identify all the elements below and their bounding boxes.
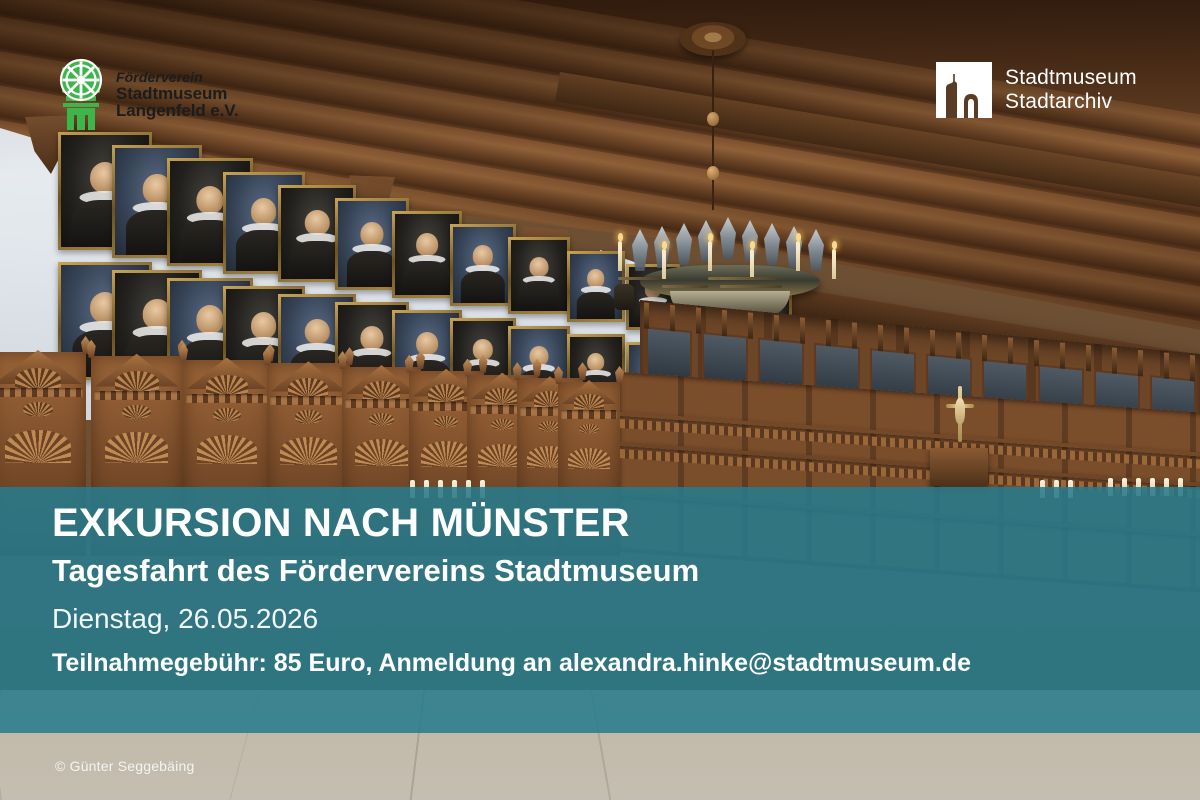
stall-fan-upper bbox=[574, 394, 604, 409]
stall-fan-upper bbox=[206, 375, 248, 396]
gallery-baluster bbox=[1112, 347, 1117, 373]
chandelier-flame bbox=[708, 233, 713, 241]
stall-frieze bbox=[186, 394, 268, 403]
gallery-baluster bbox=[644, 302, 649, 328]
chandelier-finial bbox=[720, 217, 736, 259]
chandelier-candle bbox=[708, 241, 712, 271]
stall-medallion bbox=[579, 424, 599, 434]
chandelier-finial bbox=[676, 223, 692, 265]
chandelier-candle bbox=[662, 249, 666, 279]
gallery-baluster bbox=[878, 325, 883, 351]
chandelier-finial bbox=[764, 223, 780, 265]
gallery-baluster bbox=[722, 310, 727, 336]
stall-fan-niche bbox=[197, 435, 257, 465]
gallery-baluster bbox=[1138, 350, 1143, 376]
gallery-baluster bbox=[826, 320, 831, 346]
gallery-baluster bbox=[696, 307, 701, 333]
stall-frieze bbox=[94, 391, 180, 400]
sconce-base bbox=[614, 284, 634, 310]
gallery-baluster bbox=[852, 322, 857, 348]
event-poster: Förderverein Stadtmuseum Langenfeld e.V.… bbox=[0, 0, 1200, 800]
portrait-painting bbox=[450, 224, 516, 306]
foerderverein-wheel-logo-icon bbox=[55, 58, 107, 132]
crucifix-figure bbox=[955, 398, 965, 424]
stall-fan-upper bbox=[363, 381, 401, 400]
stall-medallion bbox=[491, 419, 514, 430]
stall-fan-niche bbox=[280, 437, 337, 465]
stall-fan-upper bbox=[485, 388, 519, 405]
stall-fan-niche bbox=[355, 439, 409, 466]
gallery-baluster bbox=[670, 305, 675, 331]
chandelier-arm bbox=[720, 285, 782, 288]
gallery-baluster bbox=[1164, 352, 1169, 378]
gallery-baluster bbox=[1086, 345, 1091, 371]
gallery-baluster bbox=[982, 335, 987, 361]
gallery-baluster bbox=[1190, 355, 1195, 381]
chandelier-arm bbox=[662, 285, 708, 288]
stall-fan-niche bbox=[5, 430, 70, 463]
foerderverein-logo: Förderverein Stadtmuseum Langenfeld e.V. bbox=[55, 58, 239, 132]
chandelier-flame bbox=[618, 233, 623, 241]
chandelier-flame bbox=[796, 233, 801, 241]
stall-medallion bbox=[369, 413, 394, 426]
chandelier-candle bbox=[832, 249, 836, 279]
chandelier-flame bbox=[750, 241, 755, 249]
stall-fan-niche bbox=[105, 432, 167, 463]
stall-fan-niche bbox=[568, 448, 610, 469]
chandelier-candle bbox=[796, 241, 800, 271]
stall-medallion bbox=[434, 416, 458, 428]
event-subtitle: Tagesfahrt des Fördervereins Stadtmuseum bbox=[52, 553, 1180, 589]
chandelier-arm bbox=[720, 277, 778, 280]
photo-credit: © Günter Seggebäing bbox=[55, 758, 194, 774]
stall-fan-niche bbox=[421, 441, 472, 466]
stall-fan-upper bbox=[428, 384, 464, 402]
gallery-baluster bbox=[956, 332, 961, 358]
event-title: EXKURSION NACH MÜNSTER bbox=[52, 501, 1180, 545]
event-fee-and-registration: Teilnahmegebühr: 85 Euro, Anmeldung an a… bbox=[52, 649, 1180, 678]
chandelier-flame bbox=[662, 241, 667, 249]
foerderverein-logo-text: Förderverein Stadtmuseum Langenfeld e.V. bbox=[116, 70, 239, 120]
gallery-baluster bbox=[800, 317, 805, 343]
event-info-banner: EXKURSION NACH MÜNSTER Tagesfahrt des Fö… bbox=[0, 487, 1200, 733]
stadtmuseum-building-logo-icon bbox=[936, 62, 992, 118]
gallery-baluster bbox=[1060, 342, 1065, 368]
chandelier-candle bbox=[750, 249, 754, 279]
stall-medallion bbox=[213, 408, 241, 422]
chandelier-finial bbox=[808, 229, 824, 271]
gallery-baluster bbox=[748, 312, 753, 338]
gallery-baluster bbox=[774, 315, 779, 341]
stadtmuseum-line2: Stadtarchiv bbox=[1005, 90, 1137, 114]
stall-frieze bbox=[270, 396, 347, 405]
foerderverein-line1: Förderverein bbox=[116, 70, 239, 85]
banner-text-block: EXKURSION NACH MÜNSTER Tagesfahrt des Fö… bbox=[52, 501, 1180, 678]
stadtmuseum-logo-text: Stadtmuseum Stadtarchiv bbox=[1005, 66, 1137, 113]
stall-fan-upper bbox=[288, 378, 328, 398]
stall-frieze bbox=[0, 388, 83, 397]
gallery-baluster bbox=[1008, 337, 1013, 363]
gallery-baluster bbox=[1034, 340, 1039, 366]
crucifix bbox=[946, 386, 974, 448]
foerderverein-line2: Stadtmuseum bbox=[116, 85, 239, 103]
portrait-painting bbox=[508, 237, 570, 314]
stall-frieze bbox=[345, 399, 418, 408]
stall-frieze bbox=[561, 410, 617, 419]
chandelier-flame bbox=[832, 241, 837, 249]
foerderverein-line3: Langenfeld e.V. bbox=[116, 102, 239, 120]
gallery-baluster bbox=[904, 327, 909, 353]
stadtmuseum-line1: Stadtmuseum bbox=[1005, 66, 1137, 90]
stall-medallion bbox=[295, 410, 322, 423]
gallery-baluster bbox=[930, 330, 935, 356]
stadtmuseum-logo: Stadtmuseum Stadtarchiv bbox=[936, 62, 1137, 118]
event-date: Dienstag, 26.05.2026 bbox=[52, 603, 1180, 635]
